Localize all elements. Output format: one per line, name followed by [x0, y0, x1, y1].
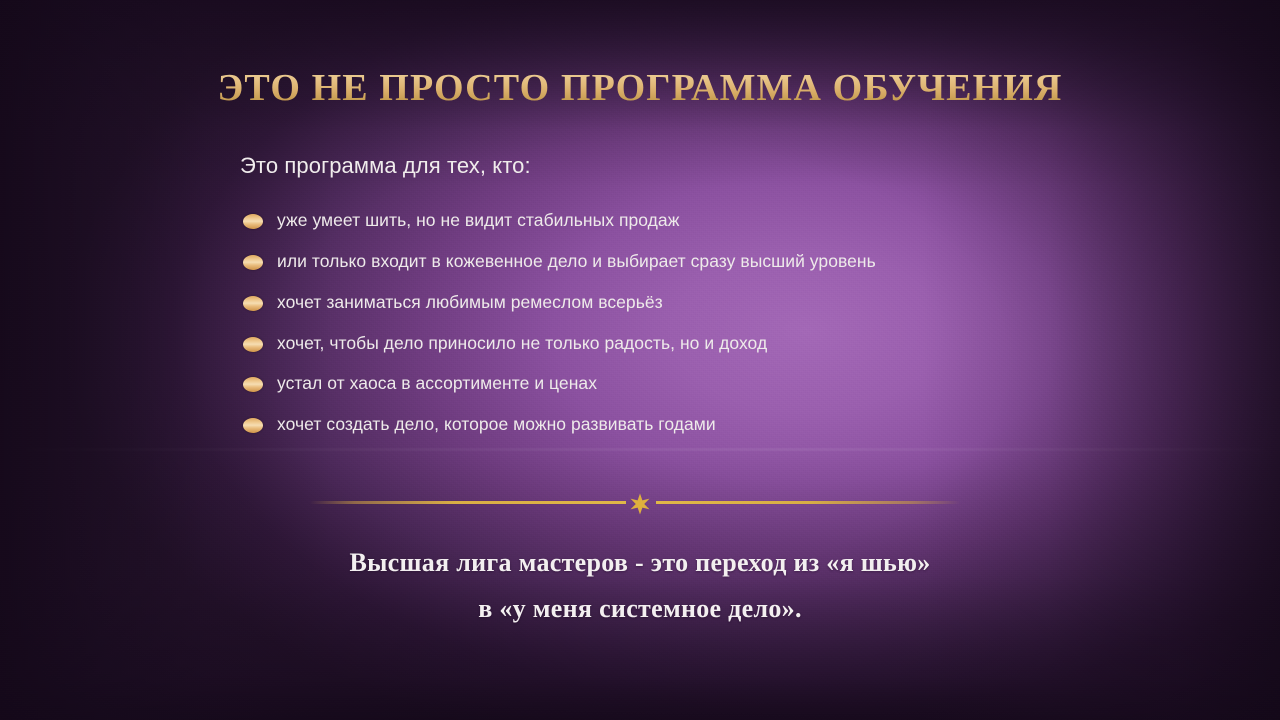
- bullet-dot-icon: [243, 377, 263, 392]
- list-item: или только входит в кожевенное дело и вы…: [240, 250, 1000, 274]
- slide-body: Это программа для тех, кто: уже умеет ши…: [240, 152, 1000, 454]
- bullet-dot-icon: [243, 337, 263, 352]
- list-item-label: хочет, чтобы дело приносило не только ра…: [277, 333, 767, 353]
- list-item-label: устал от хаоса в ассортименте и ценах: [277, 373, 597, 393]
- quote-line-1: Высшая лига мастеров - это переход из «я…: [0, 540, 1280, 586]
- bullet-dot-icon: [243, 214, 263, 229]
- divider-ornament: [0, 490, 1280, 514]
- divider-rule-left: [310, 501, 626, 504]
- bullet-list: уже умеет шить, но не видит стабильных п…: [240, 209, 1000, 438]
- bullet-dot-icon: [243, 255, 263, 270]
- divider-rule-right: [656, 501, 960, 504]
- bullet-dot-icon: [243, 418, 263, 433]
- list-item-label: или только входит в кожевенное дело и вы…: [277, 251, 876, 271]
- quote-line-2: в «у меня системное дело».: [0, 586, 1280, 632]
- slide-title: Это не просто программа обучения: [0, 68, 1280, 110]
- lead-text: Это программа для тех, кто:: [240, 152, 1000, 181]
- list-item-label: хочет создать дело, которое можно развив…: [277, 414, 716, 434]
- six-point-star-icon: [629, 493, 651, 515]
- list-item-label: уже умеет шить, но не видит стабильных п…: [277, 210, 679, 230]
- list-item: хочет, чтобы дело приносило не только ра…: [240, 332, 1000, 356]
- list-item: хочет заниматься любимым ремеслом всерьё…: [240, 291, 1000, 315]
- list-item: уже умеет шить, но не видит стабильных п…: [240, 209, 1000, 233]
- bullet-dot-icon: [243, 296, 263, 311]
- slide-canvas: Это не просто программа обучения Это про…: [0, 0, 1280, 720]
- slide-quote: Высшая лига мастеров - это переход из «я…: [0, 540, 1280, 631]
- list-item-label: хочет заниматься любимым ремеслом всерьё…: [277, 292, 663, 312]
- list-item: хочет создать дело, которое можно развив…: [240, 413, 1000, 437]
- list-item: устал от хаоса в ассортименте и ценах: [240, 372, 1000, 396]
